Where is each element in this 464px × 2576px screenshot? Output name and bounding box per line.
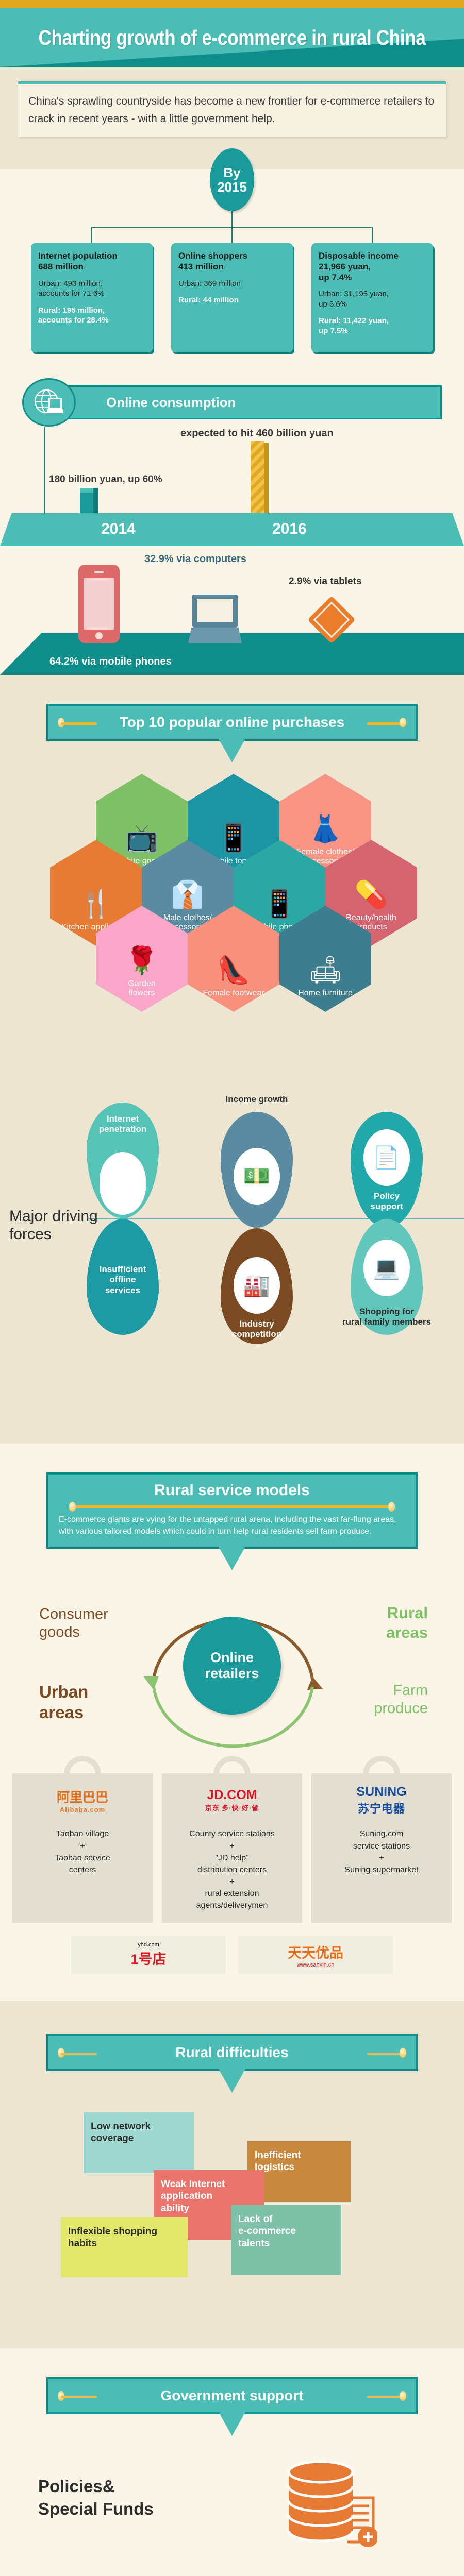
policies-title: Policies& Special Funds bbox=[38, 2475, 154, 2520]
rsm-cycle-diagram: Online retailers Consumer goods Urban ar… bbox=[21, 1581, 443, 1751]
laptop-icon bbox=[188, 595, 242, 644]
banner-pointer bbox=[219, 2412, 245, 2436]
globe-laptop-icon bbox=[22, 378, 76, 427]
banner-rule-right bbox=[367, 2053, 403, 2055]
force-label: Insufficient offline services bbox=[87, 1264, 159, 1296]
device-label-mobile: 64.2% via mobile phones bbox=[49, 656, 172, 668]
brand-card: yhd.com 1号店 bbox=[71, 1936, 226, 1974]
by-2015-section: By 2015 Internet population 688 million … bbox=[0, 148, 464, 362]
smartphone-icon bbox=[78, 565, 120, 643]
bag-handle-icon bbox=[363, 1756, 400, 1774]
difficulties-banner: Rural difficulties bbox=[46, 2034, 418, 2071]
furniture-icon: 🛋 bbox=[308, 957, 342, 984]
top10-title: Top 10 popular online purchases bbox=[120, 714, 345, 731]
company-card: JD.COM 京东 多·快·好·省 County service station… bbox=[162, 1773, 302, 1922]
force-label: Income growth bbox=[221, 1094, 293, 1105]
device-usage-section: 32.9% via computers 2.9% via tablets 64.… bbox=[0, 546, 464, 675]
brand-card: 天天优品 www.sanxin.cn bbox=[238, 1936, 393, 1974]
stat-heading: Disposable income 21,966 yuan, up 7.4% bbox=[319, 251, 426, 283]
online-consumption-banner: Online consumption bbox=[22, 383, 442, 421]
stat-urban: Urban: 31,195 yuan, up 6.6% bbox=[319, 289, 426, 309]
stat-rural: Rural: 195 million, accounts for 28.4% bbox=[38, 306, 145, 326]
company-card-row: 阿里巴巴 Alibaba.com Taobao village + Taobao… bbox=[10, 1773, 454, 1922]
store-icon bbox=[100, 1152, 146, 1209]
banner-knob-right-icon bbox=[400, 718, 406, 727]
force-pin-top: 📄 Policy support bbox=[351, 1112, 423, 1228]
brand-text: 1号店 bbox=[130, 1948, 166, 1968]
company-logo-main: SUNING bbox=[356, 1785, 406, 1800]
by-label: By bbox=[223, 165, 240, 180]
phone-home-button bbox=[95, 632, 103, 639]
rural-difficulties-section: Rural difficulties Low network coverage … bbox=[0, 2001, 464, 2348]
cycle-farm-produce: Farm produce bbox=[374, 1682, 428, 1718]
brand-sub: www.sanxin.cn bbox=[288, 1962, 343, 1968]
top-accent-bar bbox=[0, 0, 464, 8]
cycle-rural-areas: Rural areas bbox=[386, 1603, 428, 1641]
difficulty-box[interactable]: Inflexible shopping habits bbox=[61, 2217, 188, 2277]
tablet-screen bbox=[313, 602, 350, 638]
rsm-rule bbox=[74, 1505, 390, 1508]
intro-card: China's sprawling countryside has become… bbox=[18, 81, 446, 137]
jd-logo-icon: JD.COM 京东 多·快·好·省 bbox=[169, 1773, 295, 1821]
difficulty-label: Inflexible shopping habits bbox=[68, 2226, 157, 2249]
laptop-screen bbox=[197, 599, 233, 622]
company-card: SUNING 苏宁电器 Suning.com service stations … bbox=[311, 1773, 452, 1922]
brand-text: 天天优品 bbox=[288, 1942, 343, 1962]
flowers-icon: 🌹 bbox=[125, 947, 159, 974]
stat-card: Internet population 688 million Urban: 4… bbox=[31, 243, 153, 352]
online-consumption-title: Online consumption bbox=[106, 395, 236, 411]
hex-label: Garden flowers bbox=[122, 979, 161, 998]
force-label: Shopping for rural family members bbox=[338, 1307, 436, 1328]
phone-screen bbox=[84, 578, 114, 630]
intro-section: China's sprawling countryside has become… bbox=[0, 67, 464, 148]
company-description: County service stations + "JD help" dist… bbox=[169, 1821, 295, 1911]
force-pin-top: Income growth 💵 bbox=[221, 1112, 293, 1228]
stat-rural: Rural: 44 million bbox=[178, 295, 286, 306]
difficulty-label: Low network coverage bbox=[91, 2121, 151, 2144]
difficulty-box[interactable]: Low network coverage bbox=[84, 2112, 194, 2173]
rsm-title: Rural service models bbox=[59, 1482, 405, 1499]
page-title: Charting growth of e-commerce in rural C… bbox=[32, 8, 432, 67]
cutlery-icon: 🍴 bbox=[79, 891, 113, 918]
top10-hex-grid: 📺 White goods 📱 Mobile top-up 👗 Female c… bbox=[21, 774, 443, 1062]
company-logo-sub: Alibaba.com bbox=[60, 1806, 105, 1814]
driving-forces-title: Major driving forces bbox=[9, 1208, 98, 1244]
banknote-icon: 💵 bbox=[234, 1148, 280, 1205]
bag-handle-icon bbox=[213, 1756, 251, 1774]
year-label: 2015 bbox=[217, 180, 247, 194]
banner-pointer bbox=[219, 739, 245, 762]
laptop-base bbox=[188, 628, 242, 643]
phone-speaker bbox=[94, 571, 104, 573]
factory-icon: 🏭 bbox=[234, 1257, 280, 1314]
svg-text:$: $ bbox=[316, 2463, 326, 2482]
connector-stem bbox=[231, 211, 233, 227]
secondary-brand-row: yhd.com 1号店 天天优品 www.sanxin.cn bbox=[36, 1936, 428, 1974]
government-title: Government support bbox=[161, 2387, 304, 2404]
stat-heading: Internet population 688 million bbox=[38, 251, 145, 272]
government-body: Policies& Special Funds $ bbox=[26, 2446, 438, 2575]
rsm-knob-left-icon bbox=[69, 1502, 76, 1512]
chart-label-2016: expected to hit 460 billion yuan bbox=[180, 428, 334, 439]
company-card: 阿里巴巴 Alibaba.com Taobao village + Taobao… bbox=[12, 1773, 153, 1922]
force-label-policy: Policy support bbox=[351, 1191, 423, 1212]
banner-knob-right-icon bbox=[400, 2391, 406, 2401]
company-description: Taobao village + Taobao service centers bbox=[20, 1821, 145, 1875]
stat-urban: Urban: 369 million bbox=[178, 279, 286, 289]
banner-rule-left bbox=[61, 2053, 97, 2055]
rural-service-models-section: Rural service models E-commerce giants a… bbox=[0, 1444, 464, 2001]
banner-bar: Online consumption bbox=[49, 385, 442, 419]
hex-label: Female footwear bbox=[196, 989, 270, 998]
dress-icon: 👗 bbox=[309, 816, 342, 842]
force-label: Internet penetration bbox=[87, 1114, 159, 1135]
difficulties-title: Rural difficulties bbox=[175, 2044, 288, 2061]
banner-rule-left bbox=[61, 2396, 97, 2398]
company-logo-sub: 京东 多·快·好·省 bbox=[205, 1803, 259, 1812]
connector-drop-2 bbox=[231, 227, 233, 243]
force-label: Industry competition bbox=[221, 1319, 293, 1340]
rsm-knob-right-icon bbox=[388, 1502, 395, 1512]
government-banner: Government support bbox=[46, 2377, 418, 2414]
page-header: Charting growth of e-commerce in rural C… bbox=[0, 8, 464, 67]
banner-rule-right bbox=[367, 2396, 403, 2398]
company-logo-main: JD.COM bbox=[207, 1788, 257, 1803]
cycle-urban-areas: Urban areas bbox=[39, 1682, 88, 1722]
force-pin-bottom: 🏭 Industry competition bbox=[221, 1228, 293, 1344]
device-label-computers: 32.9% via computers bbox=[144, 553, 246, 565]
laptop-lid bbox=[192, 595, 238, 628]
stat-card: Online shoppers 413 million Urban: 369 m… bbox=[171, 243, 293, 352]
banner-pointer bbox=[219, 2069, 245, 2093]
brand-sub: yhd.com bbox=[130, 1942, 166, 1948]
device-label-tablets: 2.9% via tablets bbox=[289, 576, 362, 587]
company-logo-sub: 苏宁电器 bbox=[358, 1800, 405, 1816]
documents-icon: 📄 bbox=[363, 1129, 410, 1186]
stat-heading: Online shoppers 413 million bbox=[178, 251, 286, 272]
coin-stack-icon: $ bbox=[287, 2454, 377, 2552]
cosmetics-icon: 💊 bbox=[355, 882, 388, 908]
alibaba-logo-icon: 阿里巴巴 Alibaba.com bbox=[20, 1773, 145, 1821]
tv-icon: 📺 bbox=[125, 825, 159, 852]
high-heel-icon: 👠 bbox=[217, 957, 251, 984]
driving-forces-section: Major driving forces Internet penetratio… bbox=[0, 1062, 464, 1423]
online-consumption-section: Online consumption expected to hit 460 b… bbox=[0, 362, 464, 675]
stat-card-row: Internet population 688 million Urban: 4… bbox=[0, 243, 464, 352]
hex-label: Home furniture bbox=[292, 989, 359, 998]
bag-handle-icon bbox=[64, 1756, 101, 1774]
chart-year-2014: 2014 bbox=[101, 520, 136, 538]
banner-rule-left bbox=[61, 722, 97, 725]
by-2015-badge: By 2015 bbox=[210, 148, 254, 211]
rsm-description: E-commerce giants are vying for the unta… bbox=[59, 1514, 405, 1537]
desk-computer-icon: 💻 bbox=[363, 1240, 410, 1296]
shirt-icon: 👔 bbox=[171, 882, 205, 908]
online-consumption-chart: expected to hit 460 billion yuan 180 bil… bbox=[0, 427, 464, 546]
mobile-topup-icon: 📱 bbox=[217, 825, 251, 852]
cycle-consumer-goods: Consumer goods bbox=[39, 1605, 108, 1641]
difficulty-label: Lack of e-commerce talents bbox=[238, 2214, 296, 2249]
intro-text: China's sprawling countryside has become… bbox=[28, 93, 436, 128]
government-support-section: Government support Policies& Special Fun… bbox=[0, 2348, 464, 2576]
chart-label-2014: 180 billion yuan, up 60% bbox=[49, 474, 162, 485]
stat-rural: Rural: 11,422 yuan, up 7.5% bbox=[319, 316, 426, 336]
top10-banner: Top 10 popular online purchases bbox=[46, 704, 418, 741]
connector-drop-3 bbox=[372, 227, 373, 243]
connector-drop-1 bbox=[91, 227, 92, 243]
company-description: Suning.com service stations + Suning sup… bbox=[319, 1821, 444, 1875]
chart-ground-plane bbox=[0, 513, 464, 546]
stat-card: Disposable income 21,966 yuan, up 7.4% U… bbox=[311, 243, 433, 352]
banner-rule-right bbox=[367, 722, 403, 725]
rsm-pointer bbox=[219, 1547, 245, 1570]
tree-connector bbox=[0, 211, 464, 243]
difficulties-grid: Low network coverage Inefficient logisti… bbox=[26, 2107, 438, 2324]
top10-section: Top 10 popular online purchases 📺 White … bbox=[0, 675, 464, 1444]
forces-axis-line bbox=[87, 1218, 464, 1219]
phone-icon: 📱 bbox=[263, 891, 296, 918]
cycle-center-label: Online retailers bbox=[183, 1617, 281, 1715]
suning-logo-icon: SUNING 苏宁电器 bbox=[319, 1773, 444, 1821]
chart-year-2016: 2016 bbox=[272, 520, 307, 538]
difficulty-box[interactable]: Lack of e-commerce talents bbox=[231, 2205, 341, 2275]
company-logo-main: 阿里巴巴 bbox=[57, 1787, 108, 1806]
rsm-banner: Rural service models E-commerce giants a… bbox=[46, 1472, 418, 1549]
force-pin-bottom: 💻 Shopping for rural family members bbox=[351, 1219, 423, 1335]
difficulty-label: Weak Internet application ability bbox=[161, 2179, 225, 2214]
stat-urban: Urban: 493 million, accounts for 71.6% bbox=[38, 279, 145, 299]
banner-knob-right-icon bbox=[400, 2048, 406, 2058]
